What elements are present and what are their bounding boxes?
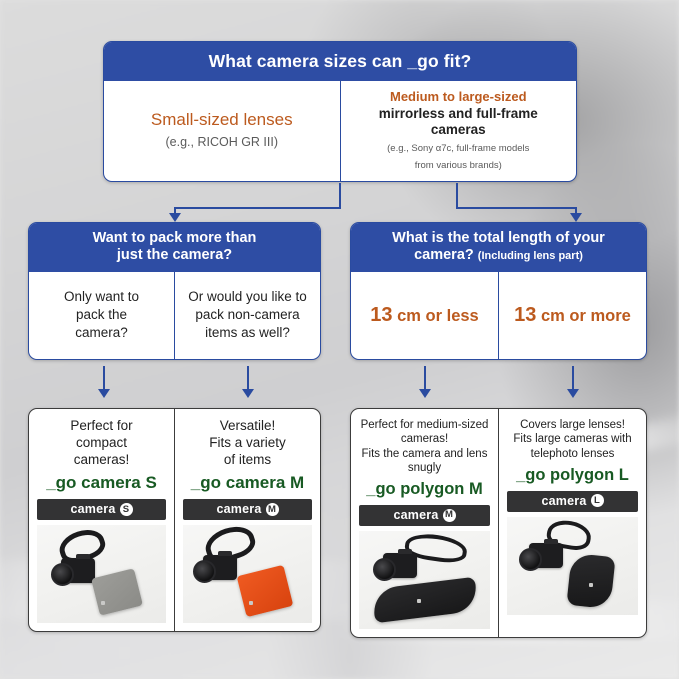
question-title-pack-more: Want to pack more than just the camera?	[29, 223, 320, 272]
answer-columns-pack-more: Only want to pack the camera? Or would y…	[29, 272, 320, 359]
answer-small-lenses[interactable]: Small-sized lenses (e.g., RICOH GR III)	[104, 81, 340, 181]
answer-13cm-or-more[interactable]: 13 cm or more	[498, 272, 646, 359]
result-polygon-l-product: _go polygon L	[505, 466, 640, 484]
badge-camera-m: camera M	[183, 499, 312, 520]
result-camera-m-desc: Versatile! Fits a variety of items	[181, 418, 314, 469]
arrow-to-result-2	[242, 389, 254, 398]
connector-left-stem	[339, 183, 341, 209]
answer-columns-row1: Small-sized lenses (e.g., RICOH GR III) …	[104, 81, 576, 181]
connector-right-elbow	[456, 207, 577, 209]
answer-columns-total-length: 13 cm or less 13 cm or more	[351, 272, 646, 359]
question-pack-more-line1: Want to pack more than	[37, 230, 312, 247]
question-total-length-line2: camera? (Including lens part)	[359, 247, 638, 264]
result-card-polygon-m[interactable]: Perfect for medium-sized cameras! Fits t…	[351, 409, 498, 637]
answer-small-lenses-highlight: Small-sized lenses	[112, 110, 332, 130]
result-camera-s-product: _go camera S	[35, 474, 168, 493]
question-total-length-line1: What is the total length of your	[359, 230, 638, 247]
arrow-to-right-question	[570, 213, 582, 222]
question-box-pack-more: Want to pack more than just the camera? …	[28, 222, 321, 360]
badge-camera-m-label: camera	[217, 502, 262, 516]
connector-right-stem	[456, 183, 458, 209]
question-box-camera-sizes: What camera sizes can _go fit? Small-siz…	[103, 41, 577, 182]
badge-polygon-l-size: L	[591, 494, 604, 507]
answer-13cm-or-less-unit: cm or less	[393, 307, 479, 325]
badge-camera-m-size: M	[266, 503, 279, 516]
question-box-total-length: What is the total length of your camera?…	[350, 222, 647, 360]
answer-small-lenses-example: (e.g., RICOH GR III)	[112, 133, 332, 151]
question-total-length-word: camera?	[414, 247, 474, 263]
answer-13cm-or-less[interactable]: 13 cm or less	[351, 272, 498, 359]
photo-polygon-m-product	[359, 531, 490, 629]
result-polygon-m-product: _go polygon M	[357, 480, 492, 498]
answer-medium-large[interactable]: Medium to large-sized mirrorless and ful…	[340, 81, 577, 181]
answer-13cm-or-less-text: 13 cm or less	[358, 303, 491, 327]
answer-13cm-or-less-number: 13	[370, 304, 392, 326]
answer-medium-large-line2: mirrorless and full-frame	[349, 106, 569, 123]
photo-camera-s-product	[37, 525, 166, 623]
answer-non-camera-items-text: Or would you like to pack non-camera ite…	[182, 288, 313, 343]
badge-camera-s-size: S	[120, 503, 133, 516]
results-box-left: Perfect for compact cameras! _go camera …	[28, 408, 321, 632]
badge-polygon-m-size: M	[443, 509, 456, 522]
result-card-camera-m[interactable]: Versatile! Fits a variety of items _go c…	[174, 409, 320, 631]
arrow-to-left-question	[169, 213, 181, 222]
badge-polygon-l: camera L	[507, 491, 638, 512]
result-card-camera-s[interactable]: Perfect for compact cameras! _go camera …	[29, 409, 174, 631]
arrow-to-result-4	[567, 389, 579, 398]
badge-polygon-m: camera M	[359, 505, 490, 526]
badge-polygon-l-label: camera	[542, 494, 587, 508]
result-camera-s-desc: Perfect for compact cameras!	[35, 418, 168, 469]
results-box-right: Perfect for medium-sized cameras! Fits t…	[350, 408, 647, 638]
question-total-length-note: (Including lens part)	[478, 250, 583, 262]
answer-medium-large-example-1: (e.g., Sony α7c, full-frame models	[349, 142, 569, 155]
arrow-to-result-1	[98, 389, 110, 398]
answer-medium-large-line3: cameras	[349, 122, 569, 139]
answer-medium-large-example-2: from various brands)	[349, 159, 569, 172]
result-columns-left: Perfect for compact cameras! _go camera …	[29, 409, 320, 631]
question-title-total-length: What is the total length of your camera?…	[351, 223, 646, 272]
question-pack-more-line2: just the camera?	[37, 247, 312, 264]
photo-polygon-l-product	[507, 517, 638, 615]
result-card-polygon-l[interactable]: Covers large lenses! Fits large cameras …	[498, 409, 646, 637]
result-camera-m-product: _go camera M	[181, 474, 314, 493]
flowchart-canvas: What camera sizes can _go fit? Small-siz…	[0, 0, 679, 679]
photo-camera-m-product	[183, 525, 312, 623]
question-title-camera-sizes: What camera sizes can _go fit?	[104, 42, 576, 81]
answer-non-camera-items[interactable]: Or would you like to pack non-camera ite…	[174, 272, 320, 359]
arrow-to-result-3	[419, 389, 431, 398]
badge-polygon-m-label: camera	[394, 508, 439, 522]
result-polygon-l-desc: Covers large lenses! Fits large cameras …	[505, 418, 640, 461]
answer-13cm-or-more-text: 13 cm or more	[506, 303, 639, 327]
result-polygon-m-desc: Perfect for medium-sized cameras! Fits t…	[357, 418, 492, 475]
badge-camera-s: camera S	[37, 499, 166, 520]
connector-left-elbow	[174, 207, 341, 209]
answer-13cm-or-more-unit: cm or more	[536, 307, 630, 325]
answer-medium-large-highlight: Medium to large-sized	[349, 89, 569, 105]
badge-camera-s-label: camera	[71, 502, 116, 516]
answer-only-camera[interactable]: Only want to pack the camera?	[29, 272, 174, 359]
result-columns-right: Perfect for medium-sized cameras! Fits t…	[351, 409, 646, 637]
answer-13cm-or-more-number: 13	[514, 304, 536, 326]
answer-only-camera-text: Only want to pack the camera?	[36, 288, 167, 343]
